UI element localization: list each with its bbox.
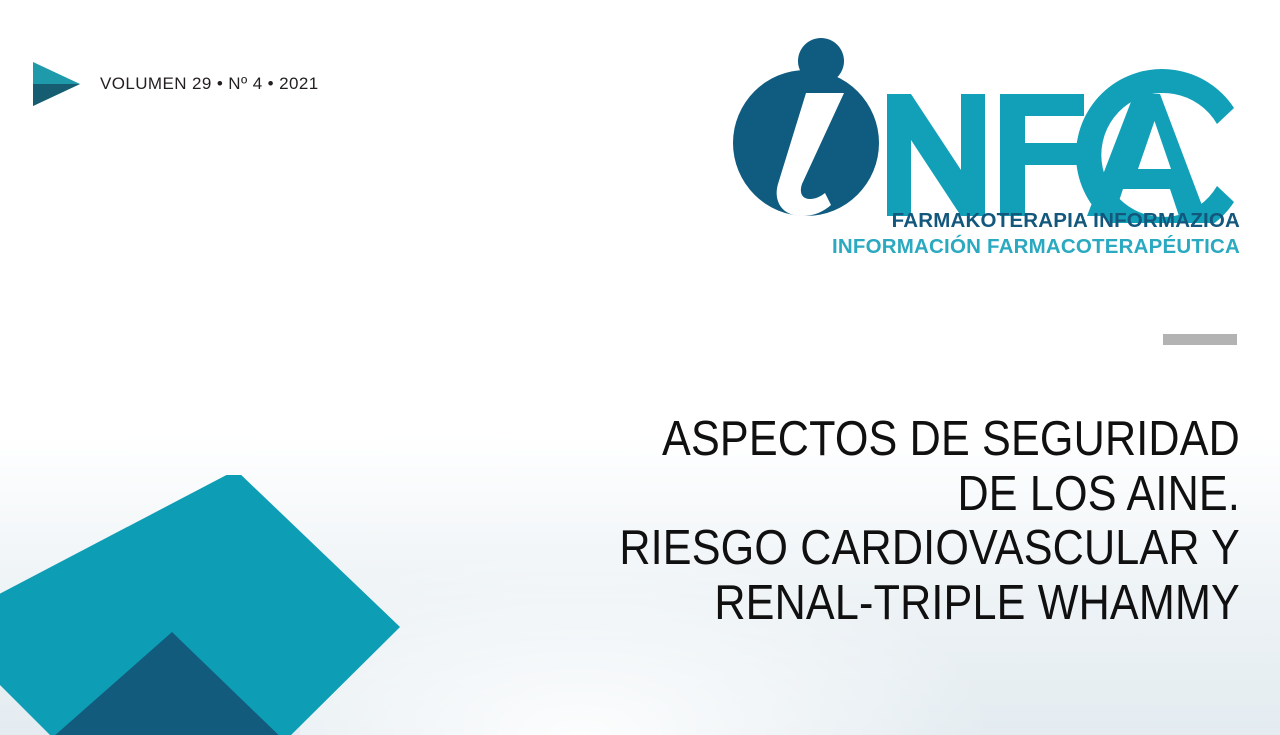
volume-row: VOLUMEN 29 • Nº 4 • 2021 xyxy=(30,60,319,108)
grey-rule-divider xyxy=(1163,334,1237,345)
logo-nfac-letters xyxy=(887,69,1234,223)
title-line-4: RENAL-TRIPLE WHAMMY xyxy=(466,576,1240,631)
logo-subtitle-spanish: INFORMACIÓN FARMACOTERAPÉUTICA xyxy=(728,236,1240,259)
play-triangle-icon xyxy=(30,60,83,108)
logo-i-dot xyxy=(798,38,844,84)
volume-label: VOLUMEN 29 • Nº 4 • 2021 xyxy=(100,75,319,94)
page-title: ASPECTOS DE SEGURIDAD DE LOS AINE. RIESG… xyxy=(360,412,1240,631)
teal-parallelogram-shape xyxy=(0,475,400,735)
title-line-1: ASPECTOS DE SEGURIDAD xyxy=(466,412,1240,467)
title-line-3: RIESGO CARDIOVASCULAR Y xyxy=(466,521,1240,576)
title-line-2: DE LOS AINE. xyxy=(466,467,1240,522)
logo-subtitle-basque: FARMAKOTERAPIA INFORMAZIOA xyxy=(728,210,1240,233)
navy-triangle-shape xyxy=(10,632,320,735)
infac-logo: FARMAKOTERAPIA INFORMAZIOA INFORMACIÓN F… xyxy=(728,38,1240,268)
infac-cover-page: VOLUMEN 29 • Nº 4 • 2021 xyxy=(0,0,1280,735)
infac-wordmark xyxy=(728,38,1240,223)
